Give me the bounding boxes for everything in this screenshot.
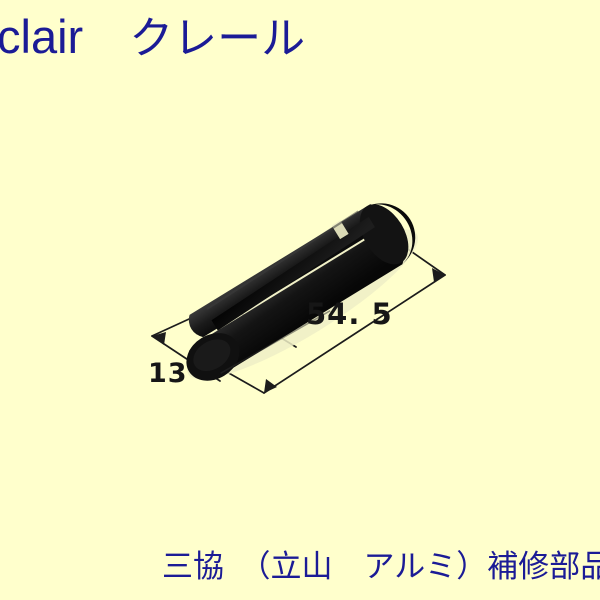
arrowhead-length-lower bbox=[264, 379, 277, 393]
footer-caption: 三協 （立山 アルミ）補修部品 bbox=[162, 545, 600, 591]
catalog-page: clairクレール bbox=[0, 0, 600, 600]
brand-name-latin: clair bbox=[0, 10, 83, 63]
brand-name-kana: クレール bbox=[129, 13, 305, 64]
dimension-label-width: 13 bbox=[148, 358, 188, 389]
dimension-label-length: 54. 5 bbox=[306, 297, 393, 331]
arrowhead-width-left bbox=[152, 332, 166, 345]
brand-header: clairクレール bbox=[0, 6, 600, 76]
